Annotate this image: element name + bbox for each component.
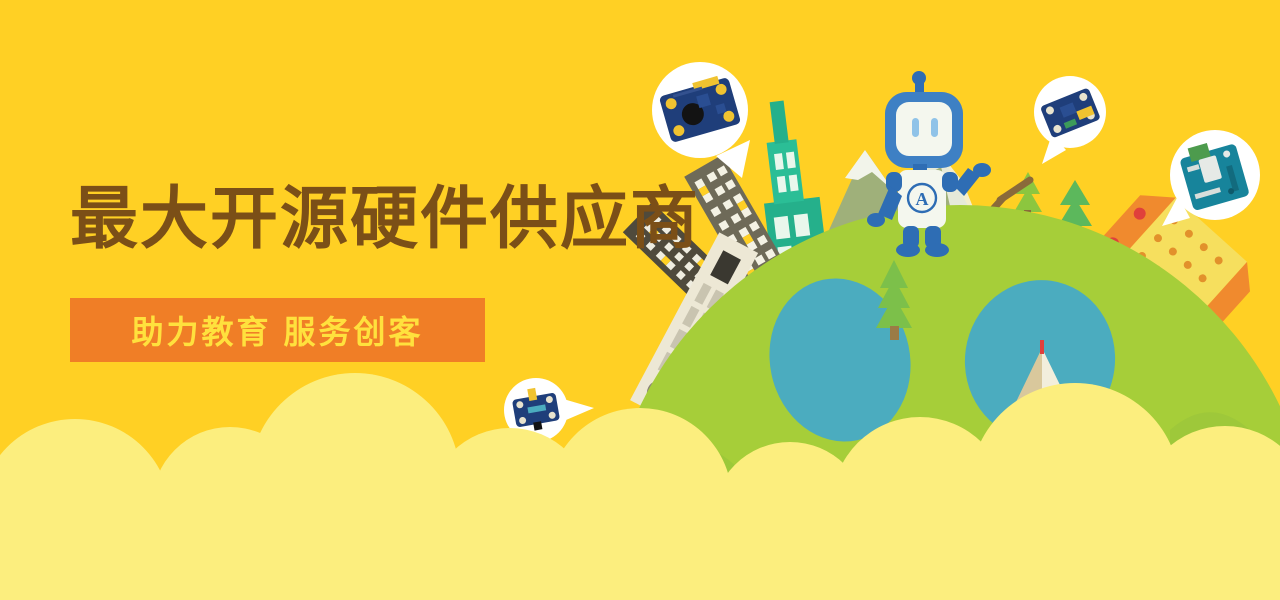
svg-text:A: A: [916, 189, 929, 209]
page-title: 最大开源硬件供应商: [70, 180, 690, 258]
tagline-badge: 助力教育 服务创客: [70, 298, 485, 362]
hero-banner: A: [0, 0, 1280, 600]
banner-text-block: 最大开源硬件供应商 助力教育 服务创客: [70, 180, 690, 380]
tagline-text: 助力教育 服务创客: [132, 307, 424, 353]
